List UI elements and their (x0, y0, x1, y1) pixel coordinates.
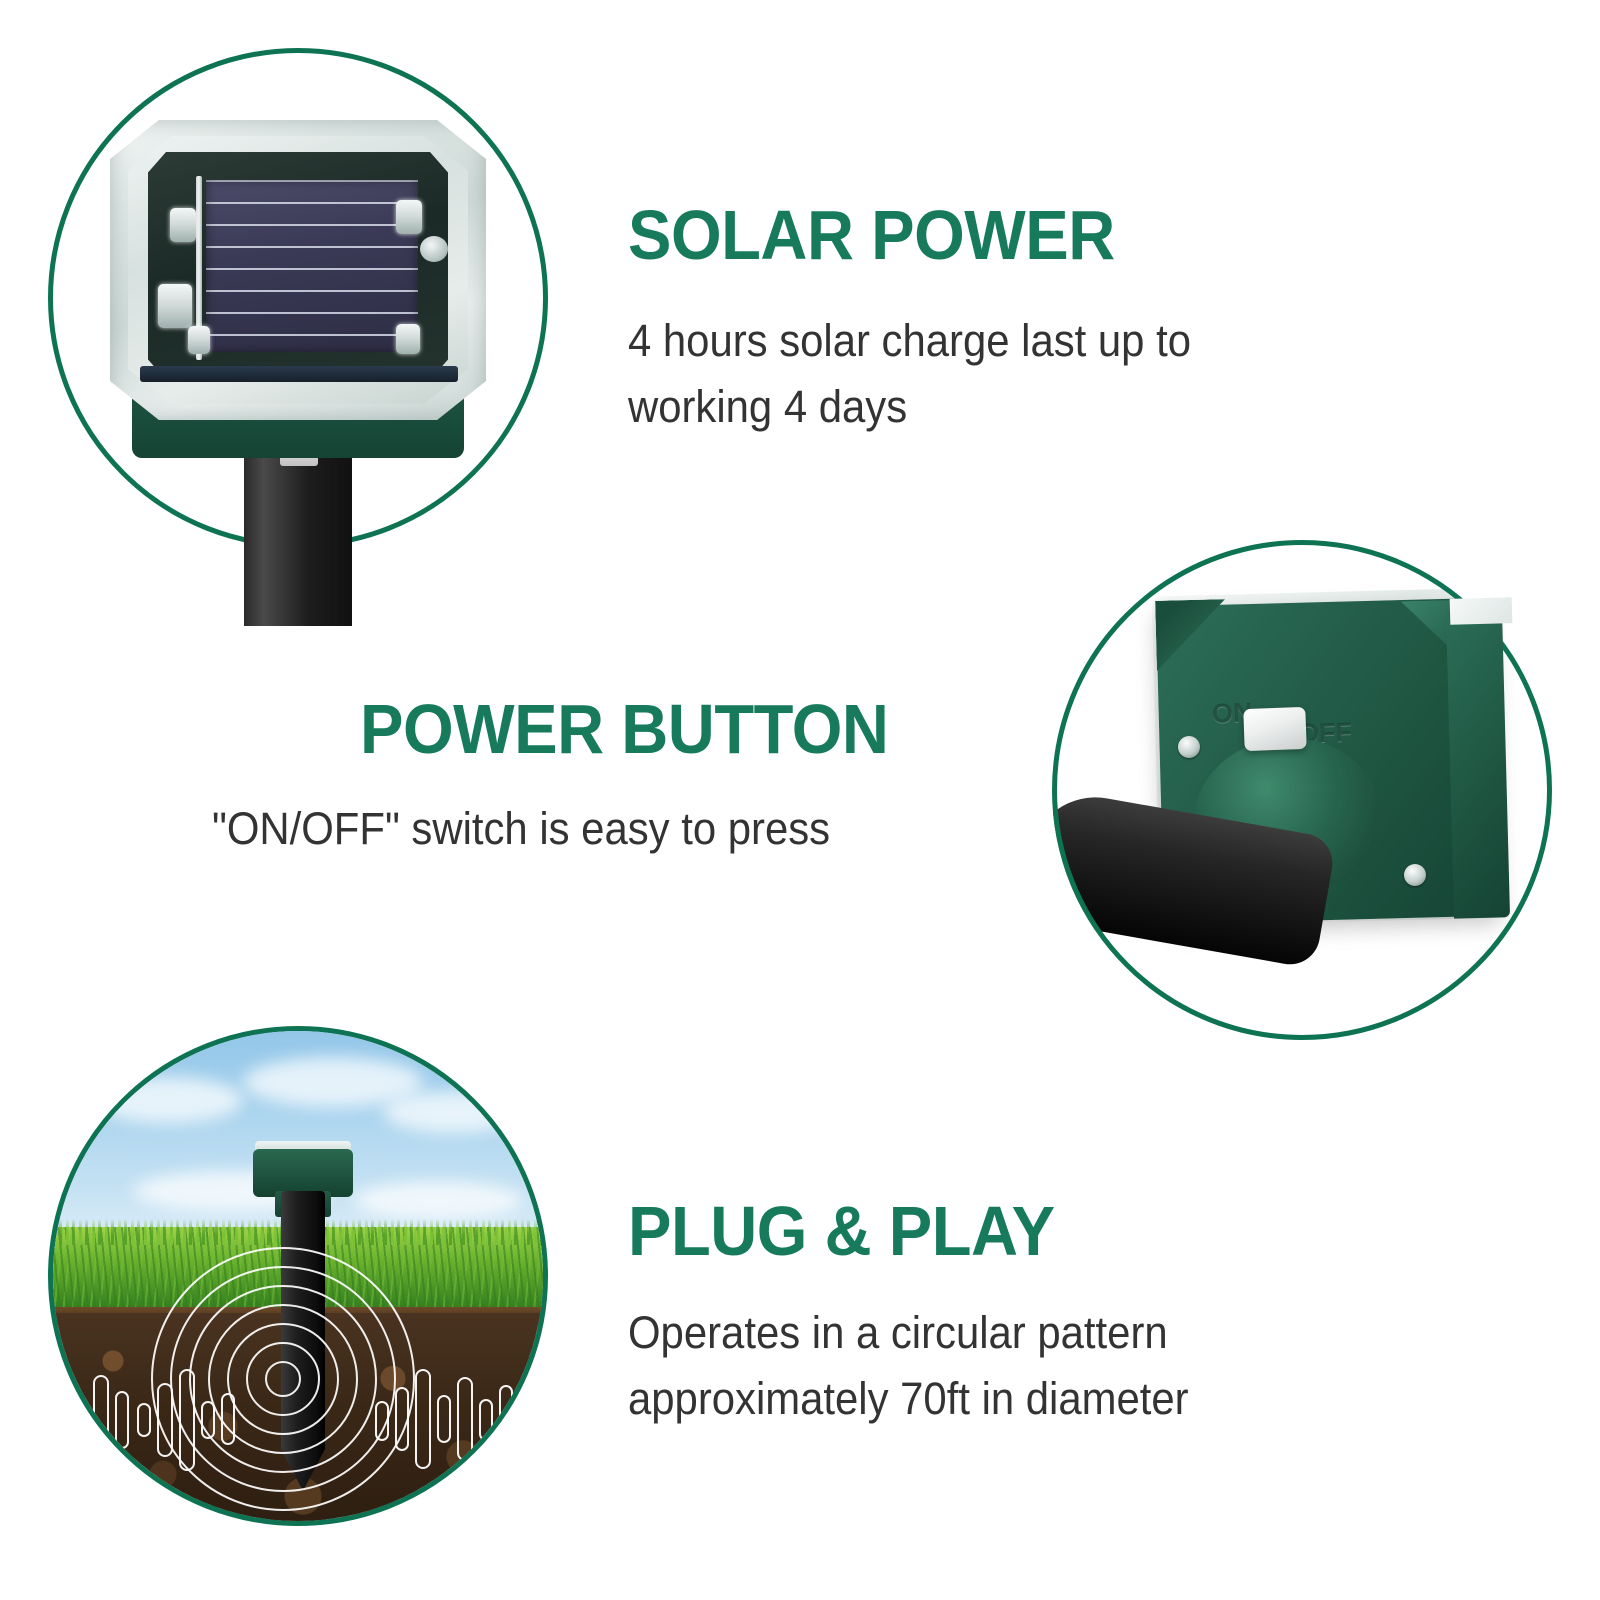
mount-post-left-bottom (158, 284, 192, 328)
wave-bar-left-7 (201, 1401, 215, 1439)
wave-bar-right-5 (457, 1377, 473, 1461)
wave-bar-right-8 (519, 1405, 533, 1437)
stake-overflow (244, 518, 352, 626)
wave-bar-left-4 (137, 1403, 151, 1437)
cover-screw (420, 236, 448, 262)
mount-post-left-top (170, 208, 196, 242)
mount-post-right-top (396, 200, 422, 234)
solar-power-body-line-1: 4 hours solar charge last up to (628, 308, 1191, 374)
mount-post-right-bottom (396, 324, 420, 354)
wave-bar-right-4 (437, 1395, 451, 1443)
solar-power-photo-clip (48, 48, 548, 548)
power-button-body-line-1: "ON/OFF" switch is easy to press (212, 796, 830, 862)
cover-lip (140, 366, 458, 382)
plug-and-play-body-line-2: approximately 70ft in diameter (628, 1366, 1189, 1432)
wave-bar-right-1 (375, 1401, 389, 1441)
plug-and-play-body-line-1: Operates in a circular pattern (628, 1300, 1168, 1366)
wave-bar-left-6 (179, 1369, 195, 1471)
power-button-photo: ON OFF (1052, 540, 1552, 1040)
power-button-heading: POWER BUTTON (360, 694, 888, 764)
housing-overflow (1446, 607, 1510, 918)
housing-screw-left (1178, 736, 1200, 758)
wave-bar-left-1 (71, 1397, 87, 1443)
wave-bar-left-2 (93, 1375, 109, 1465)
wave-bar-left-5 (157, 1383, 173, 1457)
solar-power-body-line-2: working 4 days (628, 374, 907, 440)
solar-power-photo (48, 48, 548, 548)
solar-power-heading: SOLAR POWER (628, 200, 1115, 270)
on-off-switch[interactable] (1243, 707, 1306, 751)
wave-bar-left-3 (115, 1391, 129, 1449)
solar-cell (206, 180, 418, 352)
housing-screw-right (1404, 864, 1426, 886)
infographic-page: SOLAR POWER 4 hours solar charge last up… (0, 0, 1600, 1600)
mount-post-left-screw (188, 326, 210, 354)
wave-bar-left-8 (221, 1393, 235, 1445)
cover-edge-overflow (1450, 597, 1513, 625)
wave-bar-right-7 (499, 1385, 513, 1453)
wave-bar-right-6 (479, 1399, 493, 1441)
plug-and-play-heading: PLUG & PLAY (628, 1196, 1055, 1266)
wave-bar-right-2 (395, 1387, 409, 1451)
sonic-wave-rings (53, 1031, 548, 1526)
plug-and-play-photo (48, 1026, 548, 1526)
wave-bar-right-3 (415, 1369, 431, 1469)
